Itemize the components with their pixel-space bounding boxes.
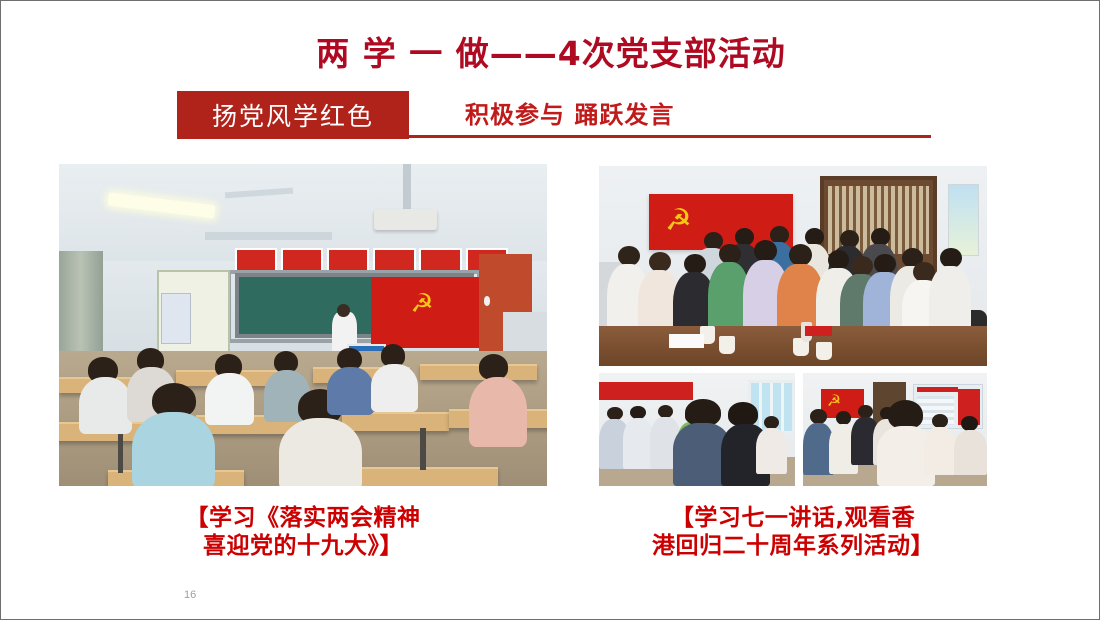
party-emblem-icon: ☭ bbox=[665, 206, 700, 234]
photo-classroom-lecture: ☭ bbox=[59, 164, 547, 486]
caption-right: 【学习七一讲话,观看香 港回归二十周年系列活动】 bbox=[599, 504, 987, 560]
caption-left: 【学习《落实两会精神 喜迎党的十九大》】 bbox=[59, 504, 547, 560]
party-emblem-icon: ☭ bbox=[410, 290, 449, 322]
page-number: 16 bbox=[184, 589, 196, 601]
photo-oath-ceremony: ☭ bbox=[803, 373, 987, 486]
slide-canvas: 两 学 一 做——4次党支部活动 扬党风学红色 积极参与 踊跃发言 ☭ bbox=[0, 0, 1100, 620]
caption-right-line1: 【学习七一讲话,观看香 bbox=[599, 504, 987, 532]
photo-group-party-flag: ☭ bbox=[599, 166, 987, 366]
red-banner bbox=[599, 382, 693, 400]
photo-meeting-raised-hands bbox=[599, 373, 795, 486]
party-emblem-icon: ☭ bbox=[827, 394, 842, 408]
subtitle-badge: 扬党风学红色 bbox=[177, 91, 409, 139]
subtitle-band: 扬党风学红色 积极参与 踊跃发言 bbox=[177, 91, 937, 139]
subtitle-tagline: 积极参与 踊跃发言 bbox=[465, 95, 674, 130]
page-title: 两 学 一 做——4次党支部活动 bbox=[1, 27, 1100, 75]
subtitle-rule bbox=[409, 135, 931, 138]
wall-placards bbox=[235, 248, 508, 272]
caption-left-line2: 喜迎党的十九大》】 bbox=[59, 532, 547, 560]
caption-left-line1: 【学习《落实两会精神 bbox=[59, 504, 547, 532]
caption-right-line2: 港回归二十周年系列活动】 bbox=[599, 532, 987, 560]
